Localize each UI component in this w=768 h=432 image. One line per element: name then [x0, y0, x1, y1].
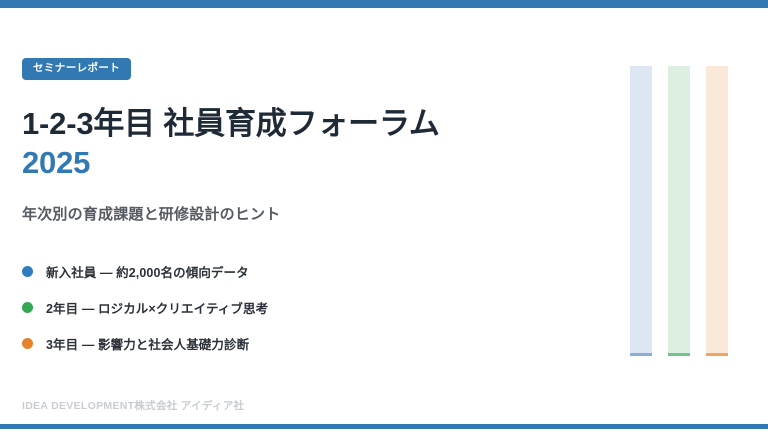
list-item-label: 3年目 — 影響力と社会人基礎力診断 [46, 334, 249, 353]
page-title: 1-2-3年目 社員育成フォーラム 2025 [22, 104, 612, 183]
bullet-dot-icon [22, 338, 33, 349]
highlight-list: 新入社員 — 約2,000名の傾向データ 2年目 — ロジカル×クリエイティブ思… [22, 254, 612, 362]
list-item-label: 新入社員 — 約2,000名の傾向データ [46, 262, 249, 281]
bullet-dot-icon [22, 302, 33, 313]
page-title-main: 1-2-3年目 社員育成フォーラム [22, 106, 440, 141]
bottom-accent-rule [0, 424, 768, 429]
slide-canvas: セミナーレポート 1-2-3年目 社員育成フォーラム 2025 年次別の育成課題… [0, 0, 768, 432]
page-subtitle: 年次別の育成課題と研修設計のヒント [22, 203, 612, 224]
content-column: セミナーレポート 1-2-3年目 社員育成フォーラム 2025 年次別の育成課題… [22, 58, 612, 378]
list-item-label: 2年目 — ロジカル×クリエイティブ思考 [46, 298, 268, 317]
category-badge: セミナーレポート [22, 58, 131, 80]
list-item: 3年目 — 影響力と社会人基礎力診断 [22, 326, 612, 362]
top-accent-rule [0, 0, 768, 8]
bullet-dot-icon [22, 266, 33, 277]
list-item: 2年目 — ロジカル×クリエイティブ思考 [22, 290, 612, 326]
footer-organization: IDEA DEVELOPMENT株式会社 アイディア社 [22, 398, 244, 413]
decorative-bar-group [630, 66, 742, 356]
page-title-year: 2025 [22, 143, 612, 183]
list-item: 新入社員 — 約2,000名の傾向データ [22, 254, 612, 290]
decorative-bar-blue [630, 66, 652, 356]
decorative-bar-green [668, 66, 690, 356]
decorative-bar-orange [706, 66, 728, 356]
